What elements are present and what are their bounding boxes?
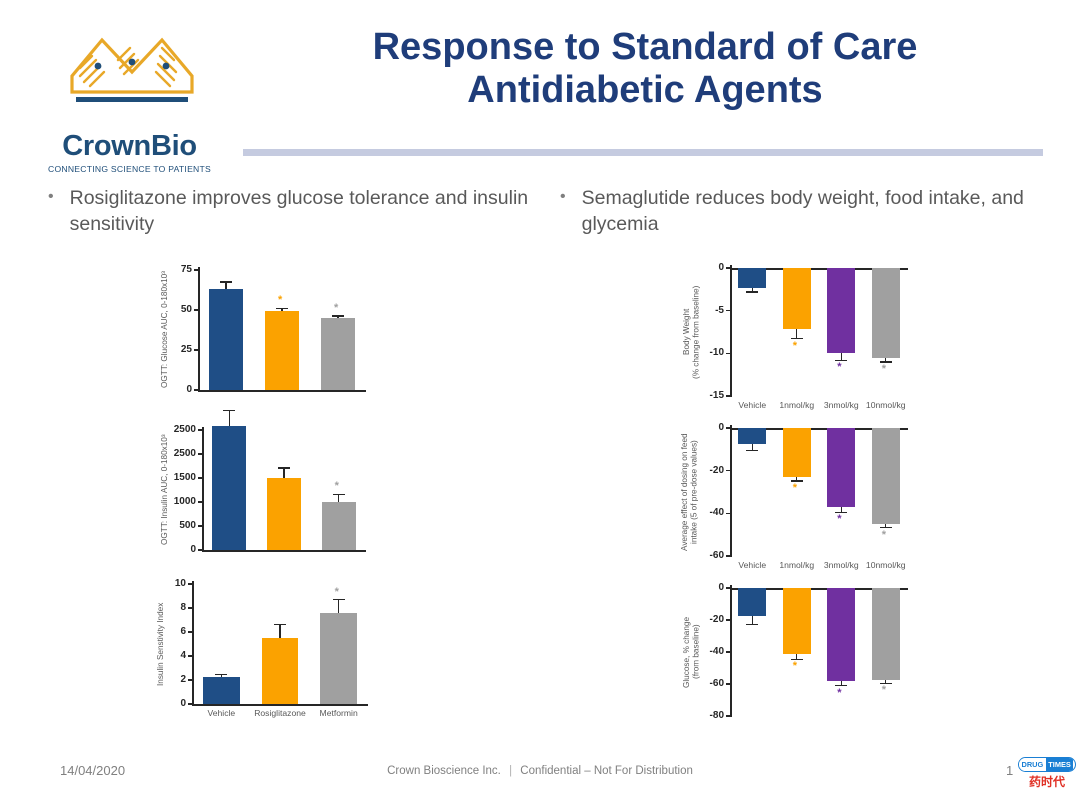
significance-marker: * — [335, 481, 339, 492]
y-axis — [198, 267, 200, 391]
error-bar-cap — [332, 315, 344, 316]
bar-vehicle — [738, 588, 766, 616]
category-label: Vehicle — [730, 400, 775, 410]
y-tick — [726, 267, 730, 268]
y-tick-label: 25 — [152, 344, 192, 355]
error-bar-cap — [746, 624, 758, 625]
watermark-times: TIMES — [1046, 758, 1074, 771]
y-tick — [726, 395, 730, 396]
error-bar-cap — [274, 624, 286, 625]
chart-body-weight-change: Body Weight (% change from baseline)0-5-… — [668, 258, 928, 418]
crown-icon — [62, 20, 202, 110]
y-axis — [730, 585, 732, 717]
error-bar — [229, 410, 230, 426]
category-label: 10nmol/kg — [864, 560, 909, 570]
y-axis — [730, 265, 732, 397]
bar-3nmol-kg — [827, 268, 855, 353]
significance-marker: * — [882, 530, 886, 541]
y-tick — [726, 715, 730, 716]
error-bar-cap — [278, 467, 290, 468]
y-tick — [726, 587, 730, 588]
bar-1nmol-kg — [783, 588, 811, 654]
error-bar — [283, 468, 284, 478]
error-bar — [338, 494, 339, 502]
bar-metformin — [322, 502, 356, 550]
category-label: Metformin — [309, 708, 368, 718]
y-tick-label: -80 — [684, 710, 724, 721]
bar-3nmol-kg — [827, 588, 855, 681]
watermark-chinese: 药时代 — [1018, 773, 1076, 790]
y-axis — [202, 427, 204, 551]
significance-marker: * — [793, 483, 797, 494]
error-bar-cap — [215, 674, 227, 675]
bar-metformin — [320, 613, 356, 704]
error-bar-cap — [223, 410, 235, 411]
y-tick — [726, 353, 730, 354]
error-bar-cap — [276, 308, 288, 309]
bar-vehicle — [209, 289, 244, 390]
significance-marker: * — [837, 688, 841, 699]
category-label: 3nmol/kg — [819, 560, 864, 570]
error-bar-cap — [333, 494, 345, 495]
significance-marker: * — [793, 661, 797, 672]
drug-times-watermark: DRUG TIMES 药时代 — [1018, 757, 1076, 790]
error-bar-cap — [220, 281, 232, 282]
y-tick — [188, 607, 192, 608]
bar-1nmol-kg — [783, 268, 811, 329]
title-divider — [243, 149, 1043, 156]
bullet-marker-right: • — [560, 185, 566, 238]
bar-10nmol-kg — [872, 588, 900, 680]
footer-confidential: Crown Bioscience Inc. | Confidential – N… — [0, 765, 1080, 777]
y-tick-label: 6 — [146, 626, 186, 637]
y-tick — [194, 309, 198, 310]
y-tick-label: 500 — [156, 520, 196, 531]
y-tick — [198, 477, 202, 478]
bullet-left-text: Rosiglitazone improves glucose tolerance… — [70, 185, 548, 238]
watermark-pill: DRUG TIMES — [1018, 757, 1076, 772]
x-axis — [202, 550, 366, 552]
y-tick — [726, 310, 730, 311]
y-tick — [188, 679, 192, 680]
chart-ogtt-insulin-auc: OGTT: Insulin AUC, 0-180x10³050010001500… — [140, 418, 380, 568]
bar-3nmol-kg — [827, 428, 855, 507]
error-bar-cap — [746, 291, 758, 292]
bullet-right-text: Semaglutide reduces body weight, food in… — [582, 185, 1040, 238]
chart-insulin-sensitivity-index: Insulin Senstivity Index0246810VehicleRo… — [140, 572, 380, 722]
page-number: 1 — [1006, 763, 1013, 778]
title-line-2: Antidiabetic Agents — [245, 69, 1045, 112]
watermark-drug: DRUG — [1019, 758, 1046, 771]
y-tick — [198, 525, 202, 526]
y-tick-label: 10 — [146, 578, 186, 589]
bar-rosiglitazone — [262, 638, 298, 704]
y-tick — [726, 683, 730, 684]
bar-10nmol-kg — [872, 268, 900, 358]
bar-10nmol-kg — [872, 428, 900, 524]
y-tick — [194, 269, 198, 270]
significance-marker: * — [334, 303, 338, 314]
bullet-right: • Semaglutide reduces body weight, food … — [560, 185, 1040, 238]
category-label: Rosiglitazone — [251, 708, 310, 718]
y-tick-label: 0 — [684, 582, 724, 593]
y-tick-label: -40 — [684, 646, 724, 657]
category-label: 3nmol/kg — [819, 400, 864, 410]
footer-company: Crown Bioscience Inc. — [387, 765, 501, 777]
y-tick-label: 0 — [146, 698, 186, 709]
y-tick-label: -5 — [684, 305, 724, 316]
y-tick — [198, 453, 202, 454]
significance-marker: * — [793, 341, 797, 352]
y-tick-label: 1500 — [156, 472, 196, 483]
y-tick — [726, 651, 730, 652]
title-line-1: Response to Standard of Care — [245, 26, 1045, 69]
y-tick-label: -20 — [684, 465, 724, 476]
y-tick-label: 2500 — [156, 448, 196, 459]
error-bar-cap — [333, 599, 345, 600]
y-tick-label: -10 — [684, 347, 724, 358]
chart-ogtt-glucose-auc: OGTT: Glucose AUC, 0-180x10³0255075** — [140, 258, 380, 408]
brand-name: CrownBio — [22, 130, 237, 163]
y-tick-label: 8 — [146, 602, 186, 613]
significance-marker: * — [335, 587, 339, 598]
bar-vehicle — [212, 426, 246, 550]
y-tick-label: 2500 — [156, 424, 196, 435]
error-bar — [338, 600, 339, 613]
y-tick-label: 50 — [152, 304, 192, 315]
x-axis — [198, 390, 366, 392]
y-tick — [194, 389, 198, 390]
bullet-marker-left: • — [48, 185, 54, 238]
y-axis — [192, 581, 194, 705]
y-tick — [188, 655, 192, 656]
y-tick-label: 2 — [146, 674, 186, 685]
bar-rosiglitazone — [267, 478, 301, 550]
y-tick — [726, 619, 730, 620]
bar-vehicle — [738, 428, 766, 444]
y-tick-label: -60 — [684, 678, 724, 689]
y-tick-label: 0 — [684, 262, 724, 273]
page-title: Response to Standard of Care Antidiabeti… — [245, 26, 1045, 111]
bar-vehicle — [203, 677, 239, 704]
y-tick — [726, 513, 730, 514]
brand-tagline: CONNECTING SCIENCE TO PATIENTS — [22, 164, 237, 174]
y-axis-label: Body Weight (% change from baseline) — [682, 268, 704, 396]
x-axis — [192, 704, 368, 706]
y-tick — [726, 470, 730, 471]
y-tick-label: 0 — [152, 384, 192, 395]
y-tick-label: -60 — [684, 550, 724, 561]
bar-vehicle — [738, 268, 766, 288]
y-tick — [198, 549, 202, 550]
error-bar-cap — [746, 450, 758, 451]
slide: CrownBio CONNECTING SCIENCE TO PATIENTS … — [0, 0, 1080, 810]
significance-marker: * — [837, 514, 841, 525]
category-label: Vehicle — [192, 708, 251, 718]
chart-feed-intake-change: Average effect of dosing on feed intake … — [668, 418, 928, 578]
significance-marker: * — [278, 295, 282, 306]
y-tick-label: -15 — [684, 390, 724, 401]
category-label: 10nmol/kg — [864, 400, 909, 410]
y-tick — [726, 555, 730, 556]
error-bar — [279, 625, 280, 638]
footer-confidential-text: Confidential – Not For Distribution — [520, 765, 693, 777]
y-tick-label: -20 — [684, 614, 724, 625]
footer-separator: | — [509, 765, 512, 777]
crownbio-logo: CrownBio CONNECTING SCIENCE TO PATIENTS — [22, 18, 237, 163]
bar-1nmol-kg — [783, 428, 811, 477]
chart-glucose-change: Glucose, % change (from baseline)0-20-40… — [668, 578, 928, 738]
y-tick-label: 4 — [146, 650, 186, 661]
significance-marker: * — [882, 364, 886, 375]
y-tick-label: -40 — [684, 507, 724, 518]
bar-rosiglitazone — [265, 311, 300, 390]
y-tick — [198, 501, 202, 502]
y-axis — [730, 425, 732, 557]
y-tick — [194, 349, 198, 350]
y-tick — [726, 427, 730, 428]
category-label: 1nmol/kg — [775, 400, 820, 410]
y-tick-label: 0 — [156, 544, 196, 555]
y-tick-label: 0 — [684, 422, 724, 433]
error-bar — [225, 282, 226, 289]
y-tick-label: 75 — [152, 264, 192, 275]
y-tick — [188, 631, 192, 632]
y-axis-label: Average effect of dosing on feed intake … — [680, 428, 702, 556]
bar-metformin — [321, 318, 356, 390]
y-tick — [188, 583, 192, 584]
y-tick — [198, 429, 202, 430]
y-tick-label: 1000 — [156, 496, 196, 507]
category-label: Vehicle — [730, 560, 775, 570]
bullet-left: • Rosiglitazone improves glucose toleran… — [48, 185, 548, 238]
category-label: 1nmol/kg — [775, 560, 820, 570]
significance-marker: * — [837, 362, 841, 373]
significance-marker: * — [882, 685, 886, 696]
y-axis-label: OGTT: Glucose AUC, 0-180x10³ — [160, 270, 182, 390]
y-tick — [188, 703, 192, 704]
